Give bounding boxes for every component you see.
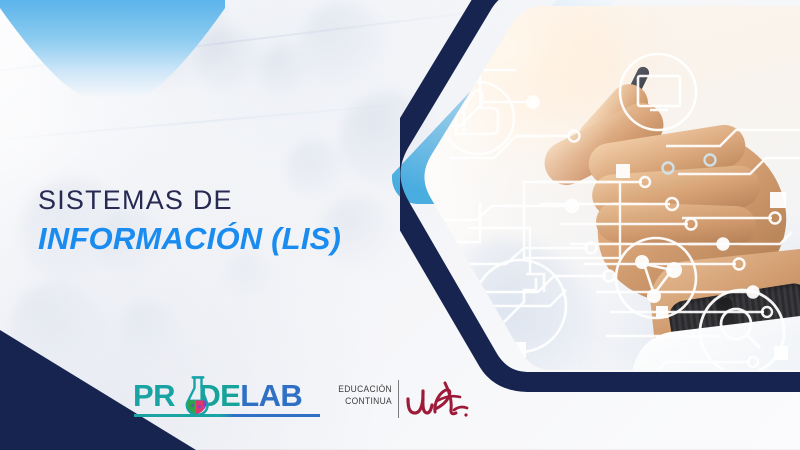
udla-tagline-line-2: CONTINUA [322,396,392,408]
laboratory-flask-icon [183,375,213,415]
prodelab-wordmark: PRODELAB [133,380,302,411]
udla-tagline-line-1: EDUCACIÓN [322,384,392,396]
title-line-2: INFORMACIÓN (LIS) [38,220,341,258]
page-title: SISTEMAS DE INFORMACIÓN (LIS) [38,186,341,258]
udla-logo: EDUCACIÓN CONTINUA [318,380,470,424]
udla-tagline: EDUCACIÓN CONTINUA [322,384,392,407]
slide-canvas: SISTEMAS DE INFORMACIÓN (LIS) PRODELAB [0,0,800,450]
bokeh-dot [120,300,178,358]
bokeh-dot [196,28,260,92]
prodelab-part-3: LAB [240,378,302,413]
prodelab-part-1: PR [133,378,175,413]
prodelab-logo: PRODELAB [133,378,325,426]
udla-divider [398,380,399,418]
bokeh-dot [300,2,386,88]
udla-wordmark-icon [404,379,470,421]
prodelab-underline [134,414,320,417]
footer-logos: PRODELAB EDUCACIÓN CONTINUA [0,372,470,434]
title-line-1: SISTEMAS DE [38,186,341,216]
